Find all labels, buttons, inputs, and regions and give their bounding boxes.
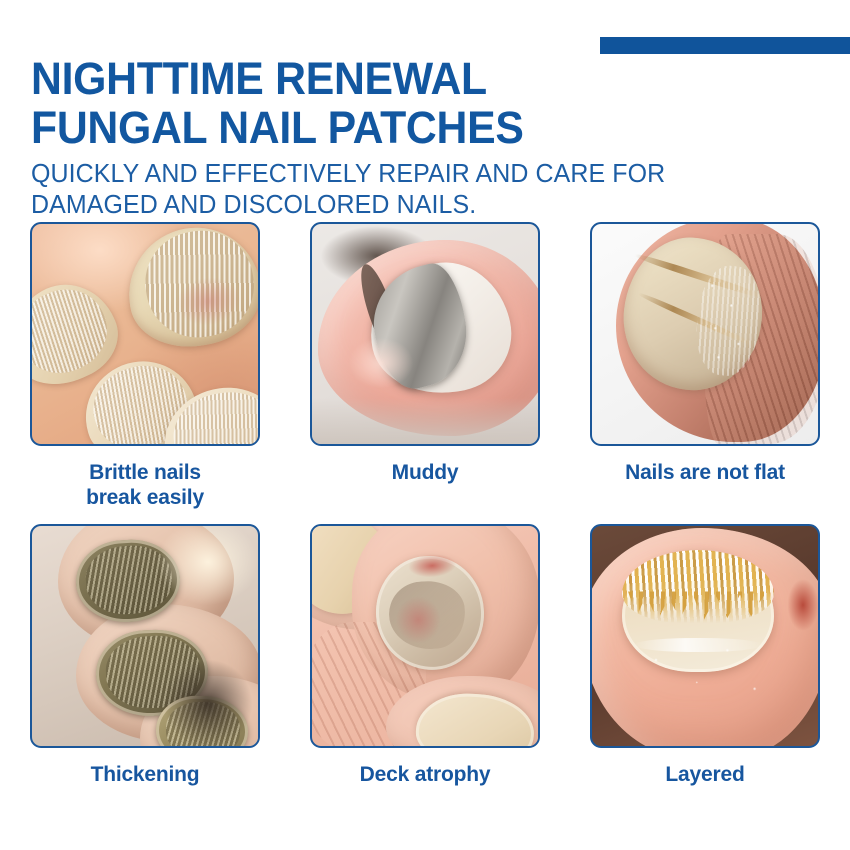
page-subtitle: QUICKLY AND EFFECTIVELY REPAIR AND CARE … xyxy=(31,158,799,220)
layered-nail-photo xyxy=(590,524,820,748)
header-section: NIGHTTIME RENEWAL FUNGAL NAIL PATCHES QU… xyxy=(0,0,850,205)
header-accent-bar xyxy=(600,37,850,54)
uneven-nail-photo xyxy=(590,222,820,446)
muddy-nail-photo xyxy=(310,222,540,446)
brittle-nails-photo xyxy=(30,222,260,446)
symptom-grid: Brittle nails break easily Muddy xyxy=(30,222,820,802)
symptom-caption: Muddy xyxy=(310,460,540,485)
infographic-page: NIGHTTIME RENEWAL FUNGAL NAIL PATCHES QU… xyxy=(0,0,850,850)
page-title: NIGHTTIME RENEWAL FUNGAL NAIL PATCHES xyxy=(31,54,601,152)
symptom-caption: Thickening xyxy=(30,762,260,787)
symptom-card-brittle-nails: Brittle nails break easily xyxy=(30,222,260,500)
thickening-nails-photo xyxy=(30,524,260,748)
symptom-card-uneven: Nails are not flat xyxy=(590,222,820,500)
symptom-caption: Brittle nails break easily xyxy=(30,460,260,510)
symptom-card-muddy: Muddy xyxy=(310,222,540,500)
photo-red-shadow xyxy=(782,570,820,640)
photo-floor-shadow xyxy=(312,398,540,444)
skin-highlight xyxy=(336,328,426,398)
symptom-card-layered: Layered xyxy=(590,524,820,802)
symptom-card-thickening: Thickening xyxy=(30,524,260,802)
symptom-caption: Nails are not flat xyxy=(590,460,820,485)
symptom-card-deck-atrophy: Deck atrophy xyxy=(310,524,540,802)
symptom-caption: Layered xyxy=(590,762,820,787)
skin-speckles xyxy=(622,636,792,716)
symptom-caption: Deck atrophy xyxy=(310,762,540,787)
deck-atrophy-photo xyxy=(310,524,540,748)
